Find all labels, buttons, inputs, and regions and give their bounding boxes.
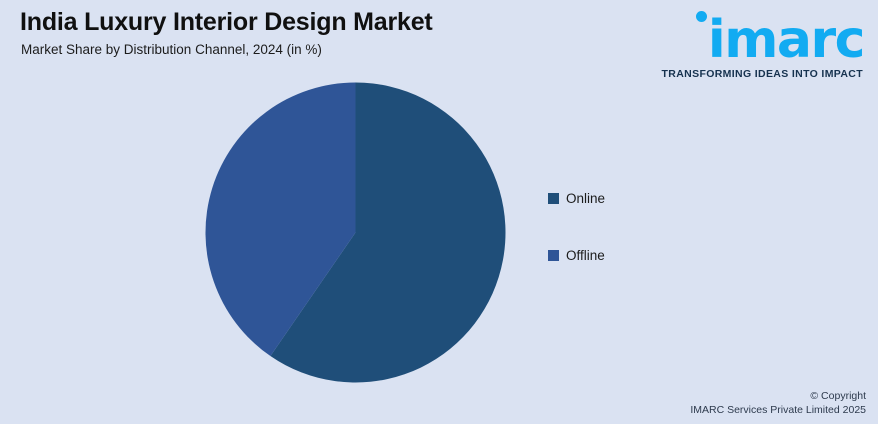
page-subtitle: Market Share by Distribution Channel, 20… [21,42,322,57]
logo-tagline: TRANSFORMING IDEAS INTO IMPACT [662,68,863,80]
copyright-footer: © Copyright IMARC Services Private Limit… [690,389,866,417]
legend-item-offline[interactable]: Offline [548,247,708,263]
legend-swatch-online [548,193,559,204]
pie-chart-svg [205,82,506,383]
copyright-line-1: © Copyright [690,389,866,403]
chart-legend: Online Offline [548,190,708,304]
copyright-line-2: IMARC Services Private Limited 2025 [690,403,866,417]
legend-label-online: Online [566,191,605,206]
logo-wordmark: imarc [708,14,864,66]
pie-chart [205,82,506,383]
legend-item-online[interactable]: Online [548,190,708,206]
logo-dot-icon [696,11,707,22]
legend-label-offline: Offline [566,248,605,263]
imarc-logo: imarc TRANSFORMING IDEAS INTO IMPACT [680,6,870,84]
legend-swatch-offline [548,250,559,261]
chart-canvas: India Luxury Interior Design Market Mark… [0,0,878,424]
page-title: India Luxury Interior Design Market [20,8,433,37]
